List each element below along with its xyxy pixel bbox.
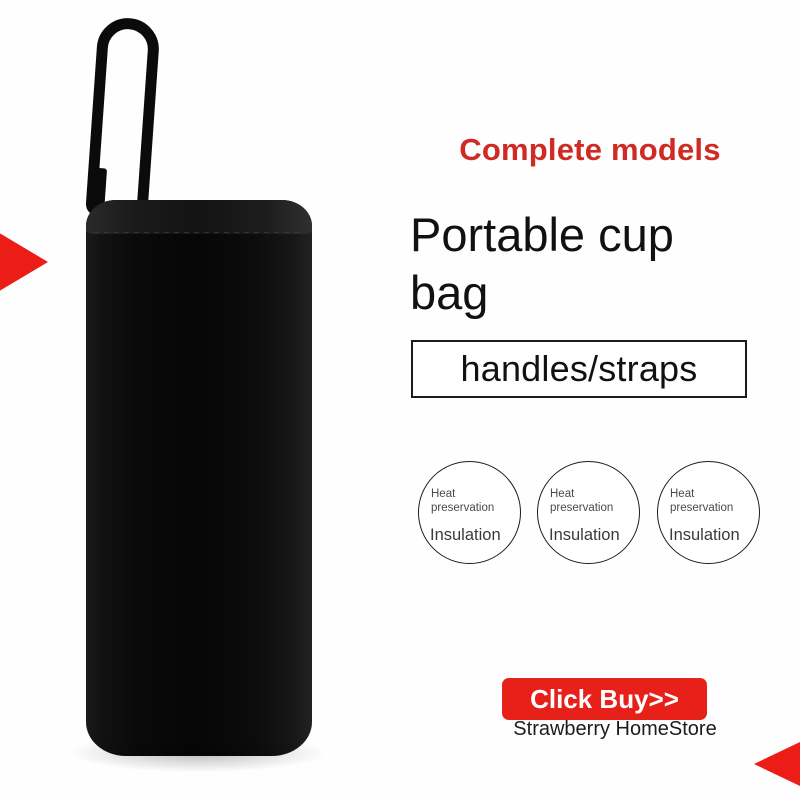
cup-sleeve-rim: [86, 200, 312, 234]
headline-text: Complete models: [410, 132, 770, 168]
click-buy-button[interactable]: Click Buy>>: [502, 678, 707, 720]
feature-badge: Heat preservation Insulation: [657, 461, 760, 564]
advertisement-banner: Complete models Portable cup bag handles…: [0, 0, 800, 800]
red-arrow-left-icon: [754, 722, 800, 800]
page-title: Portable cup bag: [410, 206, 740, 323]
cup-sleeve-body: [86, 200, 312, 756]
cup-sleeve-stitching: [94, 232, 304, 233]
badge-insulation-label: Insulation: [549, 526, 637, 545]
badge-heat-preservation-label: Heat preservation: [431, 487, 513, 515]
feature-badge: Heat preservation Insulation: [537, 461, 640, 564]
badge-heat-preservation-label: Heat preservation: [550, 487, 632, 515]
badge-insulation-label: Insulation: [430, 526, 518, 545]
product-image: [70, 18, 330, 778]
store-name-label: Strawberry HomeStore: [470, 718, 760, 741]
product-drop-shadow: [72, 734, 324, 772]
red-arrow-right-icon: [0, 206, 48, 318]
subtitle-box: handles/straps: [411, 340, 747, 398]
feature-badge-group: Heat preservation Insulation Heat preser…: [418, 461, 758, 571]
feature-badge: Heat preservation Insulation: [418, 461, 521, 564]
badge-heat-preservation-label: Heat preservation: [670, 487, 752, 515]
subtitle-text: handles/straps: [461, 348, 698, 390]
badge-insulation-label: Insulation: [669, 526, 757, 545]
